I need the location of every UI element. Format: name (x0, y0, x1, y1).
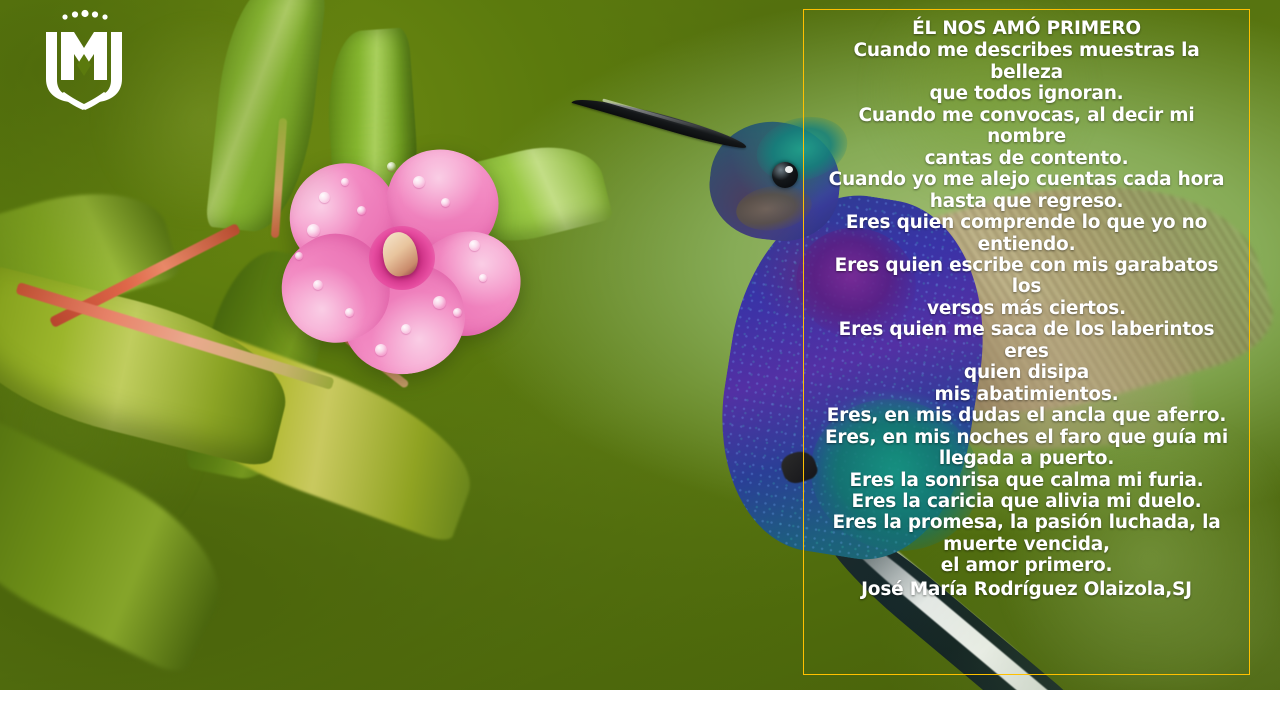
poem-line: Cuando me convocas, al decir mi nombre (818, 105, 1235, 148)
logo-ribbon-right (80, 92, 109, 110)
poem-line: Cuando me describes muestras la belleza (818, 40, 1235, 83)
poem-line: versos más ciertos. (818, 298, 1235, 319)
logo-dot (62, 14, 67, 19)
poem-line: Eres quien escribe con mis garabatos los (818, 255, 1235, 298)
poem-panel: ÉL NOS AMÓ PRIMERO Cuando me describes m… (803, 9, 1250, 675)
poem-line: muerte vencida, (818, 534, 1235, 555)
logo-glyph (46, 10, 122, 110)
poem-line: que todos ignoran. (818, 83, 1235, 104)
poem-line: Eres, en mis noches el faro que guía mi (818, 427, 1235, 448)
poem-line: Eres la sonrisa que calma mi furia. (818, 470, 1235, 491)
brand-logo[interactable] (24, 8, 144, 112)
poem-line: quien disipa (818, 362, 1235, 383)
poem-author: José María Rodríguez Olaizola,SJ (818, 577, 1235, 600)
poem-line: llegada a puerto. (818, 448, 1235, 469)
logo-dot (102, 14, 107, 19)
poem-line: entiendo. (818, 234, 1235, 255)
poem-line: Cuando yo me alejo cuentas cada hora (818, 169, 1235, 190)
logo-dot (81, 10, 88, 17)
poem-line: Eres la promesa, la pasión luchada, la (818, 512, 1235, 533)
poem-line: Eres la caricia que alivia mi duelo. (818, 491, 1235, 512)
poem-title: ÉL NOS AMÓ PRIMERO (818, 18, 1235, 40)
poem-line: hasta que regreso. (818, 191, 1235, 212)
slide-canvas: ÉL NOS AMÓ PRIMERO Cuando me describes m… (0, 0, 1280, 690)
bottom-white-band (0, 690, 1280, 720)
poem-line: cantas de contento. (818, 148, 1235, 169)
logo-dot (72, 11, 78, 17)
logo-dot (92, 11, 98, 17)
poem-line: Eres quien me saca de los laberintos ere… (818, 319, 1235, 362)
poem-line: Eres quien comprende lo que yo no (818, 212, 1235, 233)
poem-line: mis abatimientos. (818, 384, 1235, 405)
poem-line: Eres, en mis dudas el ancla que aferro. (818, 405, 1235, 426)
poem-line: el amor primero. (818, 555, 1235, 576)
